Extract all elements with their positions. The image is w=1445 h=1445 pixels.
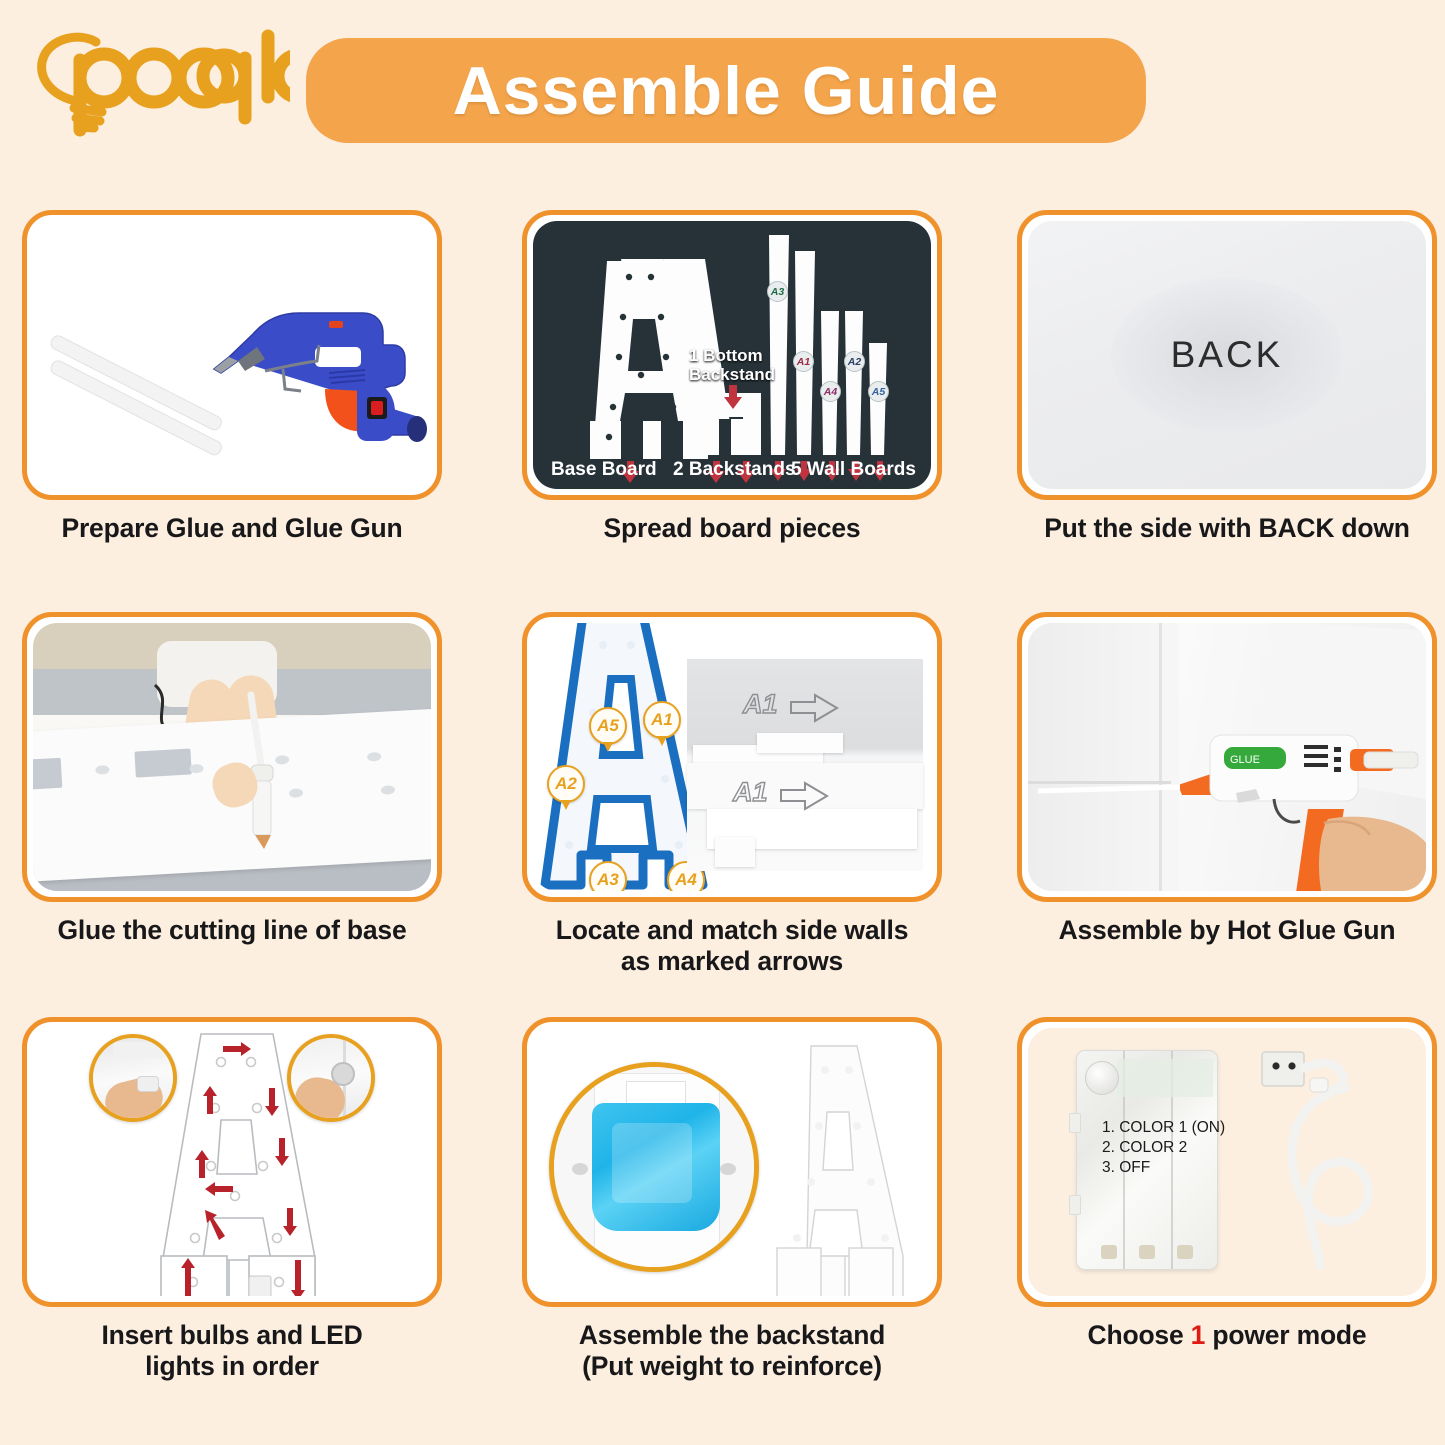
step-card-3: BACK Put the side with BACK down (1017, 210, 1445, 544)
power-mode-2: 2. COLOR 2 (1102, 1138, 1225, 1158)
step-caption-8-line1: Assemble the backstand (522, 1320, 942, 1351)
usb-cable-icon (1250, 1042, 1426, 1292)
step-caption-7-line1: Insert bulbs and LED (22, 1320, 442, 1351)
step-card-4: Glue the cutting line of base (22, 612, 462, 946)
step-image-3: BACK (1017, 210, 1437, 500)
step-caption-2: Spread board pieces (522, 513, 942, 544)
step-image-5: A1 A5 A2 A3 A4 A1 (522, 612, 942, 902)
step-caption-4: Glue the cutting line of base (22, 915, 442, 946)
board-tag-a1: A1 (793, 351, 814, 372)
step-image-1 (22, 210, 442, 500)
step-card-1: Prepare Glue and Glue Gun (22, 210, 462, 544)
photo-label-a1-bottom: A1 (733, 777, 768, 808)
step-caption-6: Assemble by Hot Glue Gun (1017, 915, 1437, 946)
step-caption-5-line1: Locate and match side walls (522, 915, 942, 946)
back-label: BACK (1028, 334, 1426, 376)
side-wall-photo: A1 A1 (687, 659, 923, 871)
arrow-right-icon (779, 781, 831, 811)
step-card-2: 1 Bottom Backstand A3 A1 A4 A2 A5 Base B… (522, 210, 962, 544)
step-caption-5: Locate and match side walls as marked ar… (522, 915, 942, 976)
steps-grid: Prepare Glue and Glue Gun (0, 200, 1445, 1445)
step-image-4 (22, 612, 442, 902)
step-card-5: A1 A5 A2 A3 A4 A1 (522, 612, 962, 976)
power-mode-list: 1. COLOR 1 (ON) 2. COLOR 2 3. OFF (1102, 1118, 1225, 1178)
power-mode-1: 1. COLOR 1 (ON) (1102, 1118, 1225, 1138)
step-caption-9-prefix: Choose (1088, 1320, 1191, 1350)
page-title-banner: Assemble Guide (306, 38, 1146, 143)
step-image-2: 1 Bottom Backstand A3 A1 A4 A2 A5 Base B… (522, 210, 942, 500)
step-caption-7-line2: lights in order (22, 1351, 442, 1382)
power-mode-3: 3. OFF (1102, 1158, 1225, 1178)
wall-marker-a5: A5 (589, 707, 627, 745)
label-2-backstands: 2 Backstands (673, 459, 796, 481)
page-title: Assemble Guide (453, 52, 1000, 130)
step-caption-3: Put the side with BACK down (1017, 513, 1437, 544)
step-caption-9-suffix: power mode (1205, 1320, 1366, 1350)
step-caption-9: Choose 1 power mode (1017, 1320, 1437, 1351)
step-image-8 (522, 1017, 942, 1307)
label-5-wall-boards: 5 Wall Boards (791, 459, 916, 481)
step-image-6: GLUE (1017, 612, 1437, 902)
board-tag-a3: A3 (767, 281, 788, 302)
step-caption-9-number: 1 (1191, 1320, 1206, 1350)
photo-label-a1-top: A1 (743, 689, 778, 720)
wall-marker-a2: A2 (547, 765, 585, 803)
step-caption-8: Assemble the backstand (Put weight to re… (522, 1320, 942, 1381)
power-switch-knob[interactable] (1085, 1061, 1119, 1095)
step-caption-1: Prepare Glue and Glue Gun (22, 513, 442, 544)
svg-text:GLUE: GLUE (1230, 754, 1260, 766)
label-base-board: Base Board (551, 459, 657, 481)
step-caption-7: Insert bulbs and LED lights in order (22, 1320, 442, 1381)
step-caption-5-line2: as marked arrows (522, 946, 942, 977)
board-tag-a4: A4 (820, 381, 841, 402)
arrow-right-icon (789, 693, 841, 723)
step-card-6: GLUE (1017, 612, 1445, 946)
glue-gun-icon (33, 221, 431, 489)
wall-marker-a3: A3 (589, 861, 627, 891)
assemble-guide-page: Assemble Guide (0, 0, 1445, 1445)
brand-logo (18, 22, 298, 142)
glue-applicator (33, 623, 431, 891)
brand-wordmark (18, 22, 290, 134)
bottom-backstand-label-line2: Backstand (689, 365, 775, 384)
step-image-7 (22, 1017, 442, 1307)
wall-marker-a1: A1 (643, 701, 681, 739)
bottom-backstand-label-line1: 1 Bottom (689, 346, 775, 365)
hot-glue-gun-icon: GLUE (1028, 623, 1426, 891)
step-card-7: Insert bulbs and LED lights in order (22, 1017, 462, 1381)
page-header: Assemble Guide (0, 0, 1445, 180)
letter-a-backstand-ghost (753, 1042, 923, 1296)
inset-water-bag-weight (549, 1062, 759, 1272)
board-tag-a5: A5 (868, 381, 889, 402)
step-caption-8-line2: (Put weight to reinforce) (522, 1351, 942, 1382)
step-image-9: 1. COLOR 1 (ON) 2. COLOR 2 3. OFF (1017, 1017, 1437, 1307)
step-card-8: Assemble the backstand (Put weight to re… (522, 1017, 962, 1381)
inset-bulb-insert-left (89, 1034, 177, 1122)
step-card-9: 1. COLOR 1 (ON) 2. COLOR 2 3. OFF (1017, 1017, 1445, 1351)
inset-bulb-insert-right (287, 1034, 375, 1122)
board-tag-a2: A2 (844, 351, 865, 372)
